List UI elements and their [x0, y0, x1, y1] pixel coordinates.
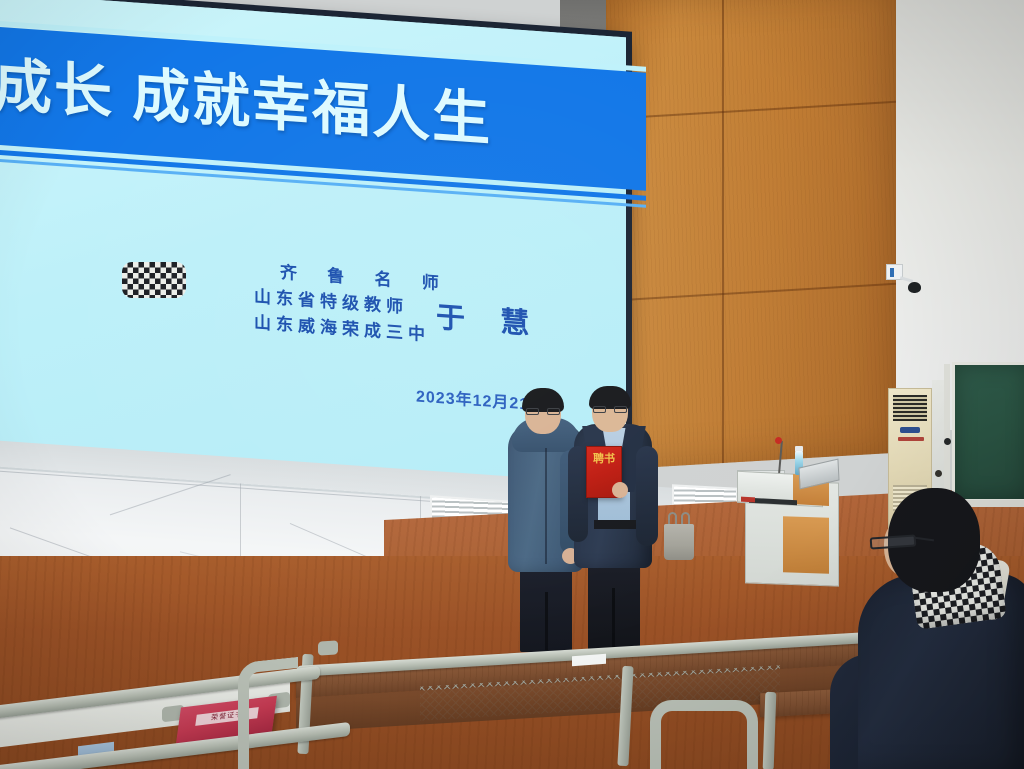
slide-honoree-name: 于 慧 — [436, 294, 543, 344]
recipient-hand-holding-certificate — [612, 482, 628, 498]
ac-top-grille — [893, 395, 927, 421]
grey-tote-bag[interactable] — [664, 524, 694, 560]
wall-switch[interactable] — [935, 470, 942, 477]
ac-brand-badge — [900, 427, 920, 433]
presenter-left-leg-split — [545, 592, 548, 650]
recipient-arm-right — [636, 446, 658, 546]
ac-label-strip — [898, 437, 924, 441]
microphone-icon — [775, 437, 782, 444]
person-audience-seated — [836, 478, 1024, 769]
certificate-text: 聘书 — [586, 452, 622, 467]
rail-cap — [318, 640, 338, 655]
recipient-belt — [594, 520, 636, 529]
lectern-wood-panel-lower — [783, 516, 829, 574]
chair-backrest[interactable] — [650, 700, 758, 769]
presenter-left-zipper — [545, 448, 547, 564]
glasses-icon — [593, 406, 627, 413]
recipient-leg-split — [612, 588, 615, 650]
audience-scarf-tail — [122, 262, 186, 298]
chalkboard-knob[interactable] — [944, 438, 951, 445]
glasses-icon — [526, 408, 560, 415]
recipient-arm-left — [568, 446, 588, 542]
lectern-red-marker — [741, 497, 755, 503]
lecture-hall-photo: 业成长 成就幸福人生 齐 鲁 名 师 山东省特级教师 山东威海荣成三中 于 慧 … — [0, 0, 1024, 769]
security-camera-icon — [908, 282, 921, 293]
wood-wall-panel — [606, 0, 896, 470]
chair-backrest-2[interactable] — [238, 657, 298, 769]
